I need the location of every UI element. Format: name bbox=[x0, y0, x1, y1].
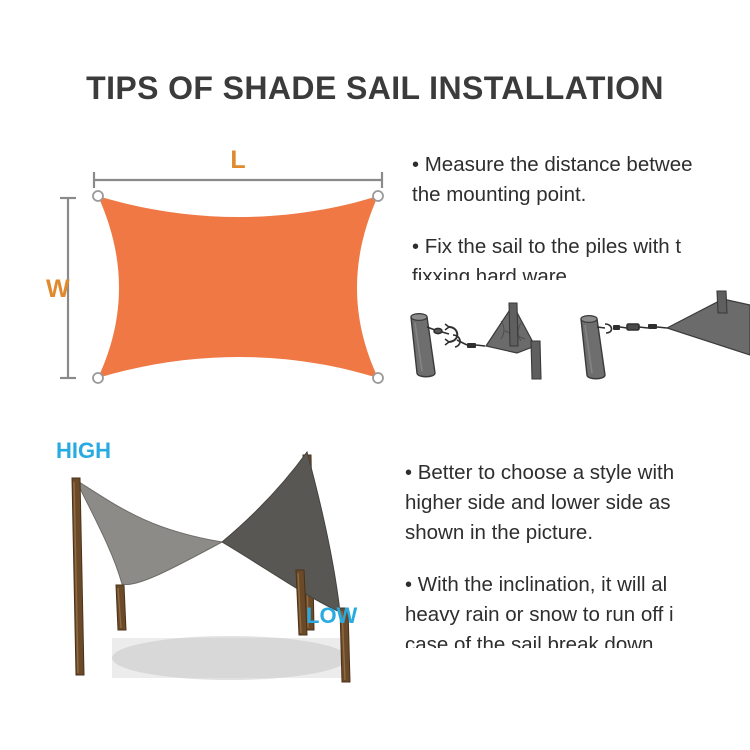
bullet-icon: • bbox=[405, 570, 412, 600]
tip-line: shown in the picture. bbox=[405, 518, 750, 548]
tip-line: • With the inclination, it will al bbox=[405, 570, 750, 600]
tip-line: case of the sail break down. bbox=[405, 630, 750, 648]
pile-post-icon bbox=[581, 316, 605, 379]
bullet-icon: • bbox=[412, 150, 419, 180]
hardware-diagram bbox=[405, 283, 750, 388]
tip-line: higher side and lower side as bbox=[405, 488, 750, 518]
orange-shade-sail bbox=[98, 196, 378, 378]
tip-line: the mounting point. bbox=[412, 180, 750, 210]
tip-line: • Measure the distance betwee bbox=[412, 150, 750, 180]
turnbuckle-icon bbox=[597, 324, 667, 333]
infographic-page: TIPS OF SHADE SAIL INSTALLATION L W bbox=[0, 0, 750, 750]
high-label: HIGH bbox=[56, 438, 111, 463]
tip-text: Fix the sail to the piles with t bbox=[425, 235, 681, 258]
bullet-icon: • bbox=[405, 458, 412, 488]
tips-top-list: • Measure the distance betwee the mounti… bbox=[412, 150, 750, 280]
tip-line: heavy rain or snow to run off i bbox=[405, 600, 750, 630]
tip-item: • Fix the sail to the piles with t fixxi… bbox=[412, 232, 750, 280]
length-label: L bbox=[230, 146, 245, 174]
sail-corner-right bbox=[667, 299, 750, 355]
tip-text: Measure the distance betwee bbox=[425, 153, 693, 176]
tip-item: • Measure the distance betwee the mounti… bbox=[412, 150, 750, 210]
install-diagram: HIGH LOW bbox=[40, 430, 410, 715]
grommet-top-left bbox=[93, 191, 103, 201]
low-label: LOW bbox=[306, 603, 358, 628]
tip-item: • Better to choose a style with higher s… bbox=[405, 458, 750, 548]
bullet-icon: • bbox=[412, 232, 419, 262]
turnbuckle-icon bbox=[427, 324, 485, 348]
tips-bottom-list: • Better to choose a style with higher s… bbox=[405, 458, 750, 648]
sail-light-gray bbox=[76, 480, 222, 585]
hardware-item-left bbox=[411, 303, 541, 379]
width-label: W bbox=[46, 275, 70, 303]
tip-line: fixxing hard ware. bbox=[412, 262, 750, 280]
ground-shadow-block bbox=[112, 638, 348, 678]
grommet-top-right bbox=[373, 191, 383, 201]
sail-post-center bbox=[509, 303, 518, 346]
sail-post-right bbox=[531, 341, 541, 379]
pile-post-icon bbox=[411, 314, 435, 377]
tip-item: • With the inclination, it will al heavy… bbox=[405, 570, 750, 648]
grommet-bottom-right bbox=[373, 373, 383, 383]
page-title: TIPS OF SHADE SAIL INSTALLATION bbox=[0, 70, 750, 107]
sail-post-far-right bbox=[717, 291, 727, 313]
hardware-item-right bbox=[581, 291, 750, 379]
tip-text: With the inclination, it will al bbox=[418, 573, 668, 596]
sail-dark-gray bbox=[222, 452, 340, 612]
tip-line: • Fix the sail to the piles with t bbox=[412, 232, 750, 262]
dimension-diagram: L W bbox=[40, 140, 410, 400]
tip-text: Better to choose a style with bbox=[418, 461, 674, 484]
grommet-bottom-left bbox=[93, 373, 103, 383]
tip-line: • Better to choose a style with bbox=[405, 458, 750, 488]
length-dimension-line bbox=[94, 172, 382, 188]
